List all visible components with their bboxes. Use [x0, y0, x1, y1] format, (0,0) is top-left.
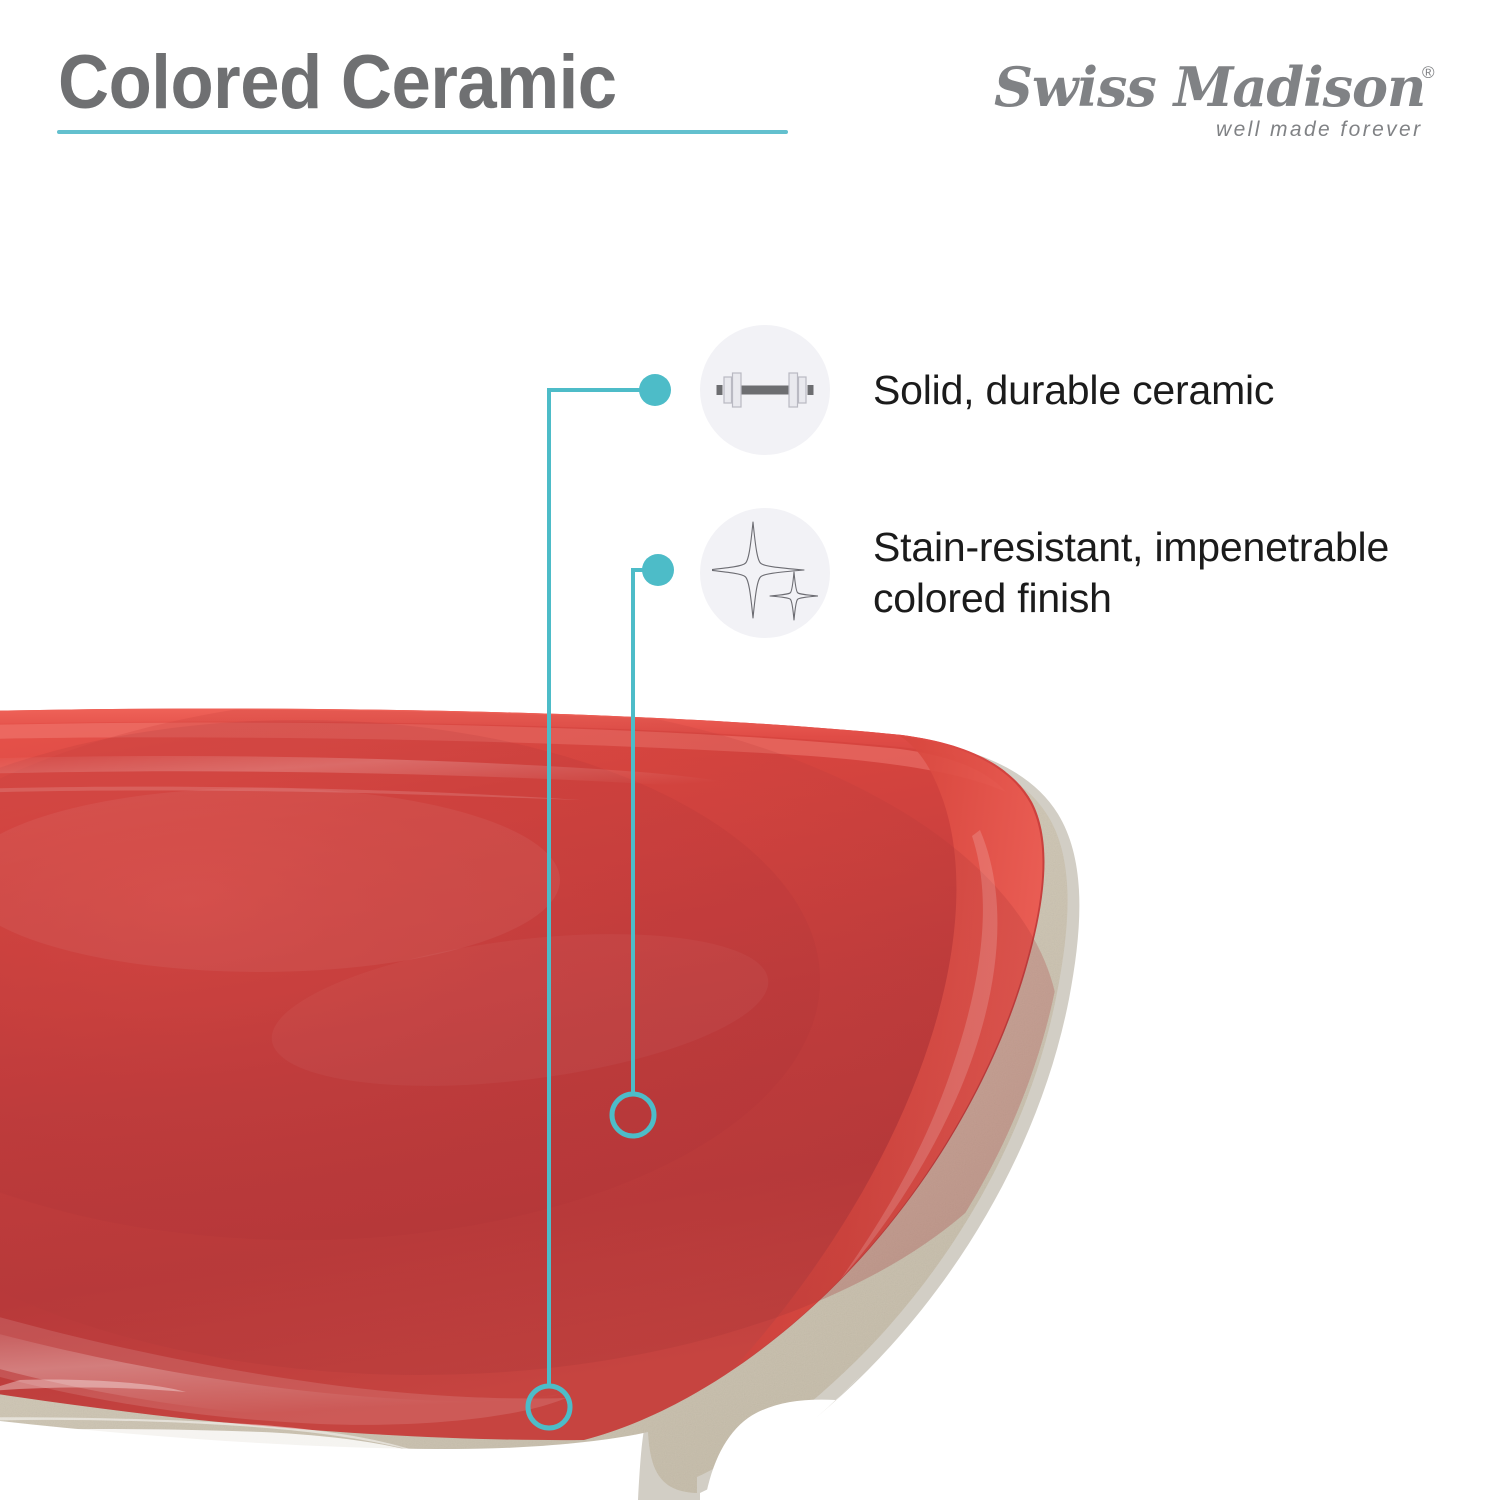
feature-icon-circle [700, 325, 830, 455]
sink-red-glaze [0, 695, 1060, 1476]
feature-row-solid-durable-ceramic: Solid, durable ceramic [700, 325, 1274, 455]
infographic-canvas: Colored Ceramic Swiss Madison ® well mad… [0, 0, 1500, 1500]
callout-dot-ceramic-body [639, 374, 671, 406]
title-underline [57, 130, 788, 134]
feature-label: Stain-resistant, impenetrable colored fi… [873, 522, 1473, 624]
dumbbell-icon [713, 360, 817, 420]
feature-row-stain-resistant-finish: Stain-resistant, impenetrable colored fi… [700, 508, 1473, 638]
sparkle-icon [712, 520, 818, 626]
brand-tagline: well made forever [1216, 118, 1423, 141]
feature-label-line-2: colored finish [873, 575, 1112, 621]
feature-icon-circle [700, 508, 830, 638]
callout-dot-colored-finish [642, 554, 674, 586]
product-illustration [0, 0, 1500, 1500]
brand-name: Swiss Madison [994, 55, 1425, 119]
feature-label-line-1: Stain-resistant, impenetrable [873, 524, 1389, 570]
brand-registered-mark: ® [1422, 63, 1435, 82]
swiss-madison-logo-svg: Swiss Madison ® well made forever [988, 48, 1448, 144]
page-title: Colored Ceramic [58, 40, 617, 126]
feature-label: Solid, durable ceramic [873, 365, 1274, 416]
brand-logo: Swiss Madison ® well made forever [988, 48, 1448, 144]
